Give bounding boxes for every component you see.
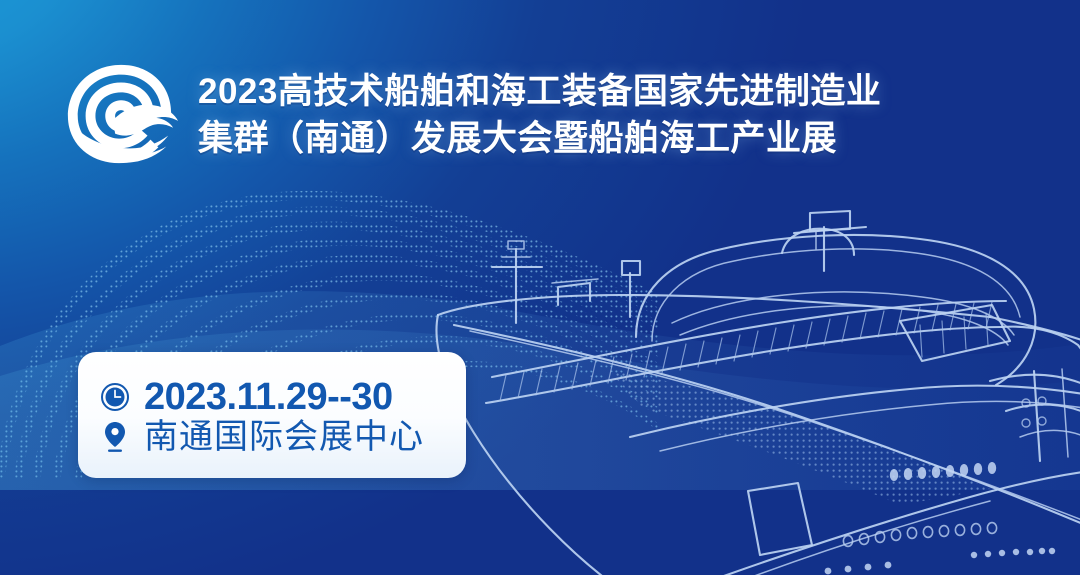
event-venue-text: 南通国际会展中心 (144, 420, 424, 454)
title-line-2: 集群（南通）发展大会暨船舶海工产业展 (198, 116, 881, 162)
event-date-text: 2023.11.29--30 (144, 378, 393, 416)
title-line-1: 2023高技术船舶和海工装备国家先进制造业 (198, 69, 881, 115)
event-venue-row: 南通国际会展中心 (100, 420, 446, 454)
location-pin-icon (100, 420, 130, 454)
title-block: 2023高技术船舶和海工装备国家先进制造业 集群（南通）发展大会暨船舶海工产业展 (198, 67, 881, 162)
clock-icon (100, 380, 130, 414)
ship-illustration (430, 175, 1080, 575)
event-date-row: 2023.11.29--30 (100, 378, 446, 416)
poster-header: 2023高技术船舶和海工装备国家先进制造业 集群（南通）发展大会暨船舶海工产业展 (62, 58, 881, 170)
event-info-card: 2023.11.29--30 南通国际会展中心 (78, 352, 466, 478)
wave-spiral-logo-icon (62, 58, 180, 170)
event-poster: 2023高技术船舶和海工装备国家先进制造业 集群（南通）发展大会暨船舶海工产业展… (0, 0, 1080, 575)
